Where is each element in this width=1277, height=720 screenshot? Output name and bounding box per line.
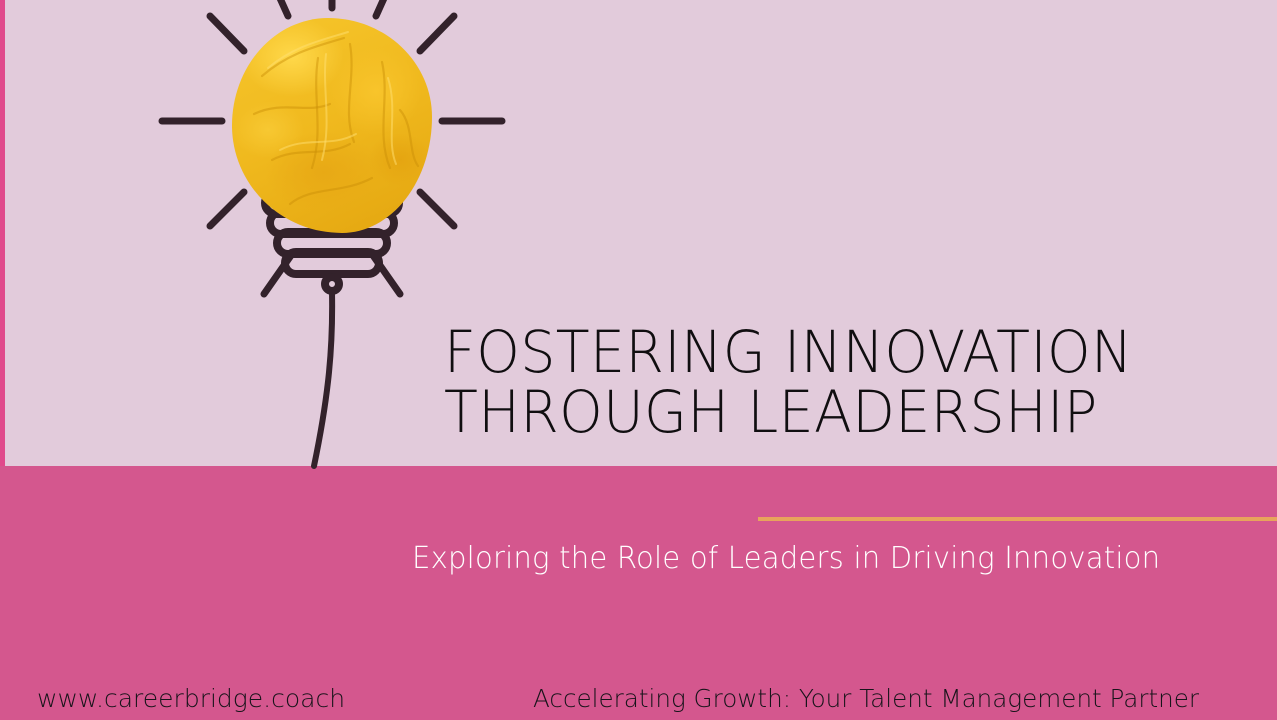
slide-lower-band: Exploring the Role of Leaders in Driving… — [0, 466, 1277, 720]
left-accent-stripe — [0, 0, 5, 466]
gold-divider-rule — [758, 517, 1277, 521]
page-title: FOSTERING INNOVATION THROUGH LEADERSHIP — [444, 322, 1244, 442]
ray-top-left — [270, 0, 288, 16]
bulb-hanging-wire — [314, 292, 332, 466]
crumpled-paper-ball — [232, 18, 432, 233]
paper-crease-lines — [232, 18, 432, 233]
footer-website-url[interactable]: www.careerbridge.coach — [37, 684, 345, 714]
ray-top-right — [376, 0, 394, 16]
title-line-2: THROUGH LEADERSHIP — [444, 382, 1208, 442]
presentation-slide: FOSTERING INNOVATION THROUGH LEADERSHIP … — [0, 0, 1277, 720]
socket-contact-dot — [325, 277, 339, 291]
title-line-1: FOSTERING INNOVATION — [444, 322, 1208, 382]
slide-subtitle: Exploring the Role of Leaders in Driving… — [412, 541, 1160, 577]
socket-ring-4 — [285, 252, 379, 274]
footer-tagline: Accelerating Growth: Your Talent Managem… — [533, 684, 1199, 714]
